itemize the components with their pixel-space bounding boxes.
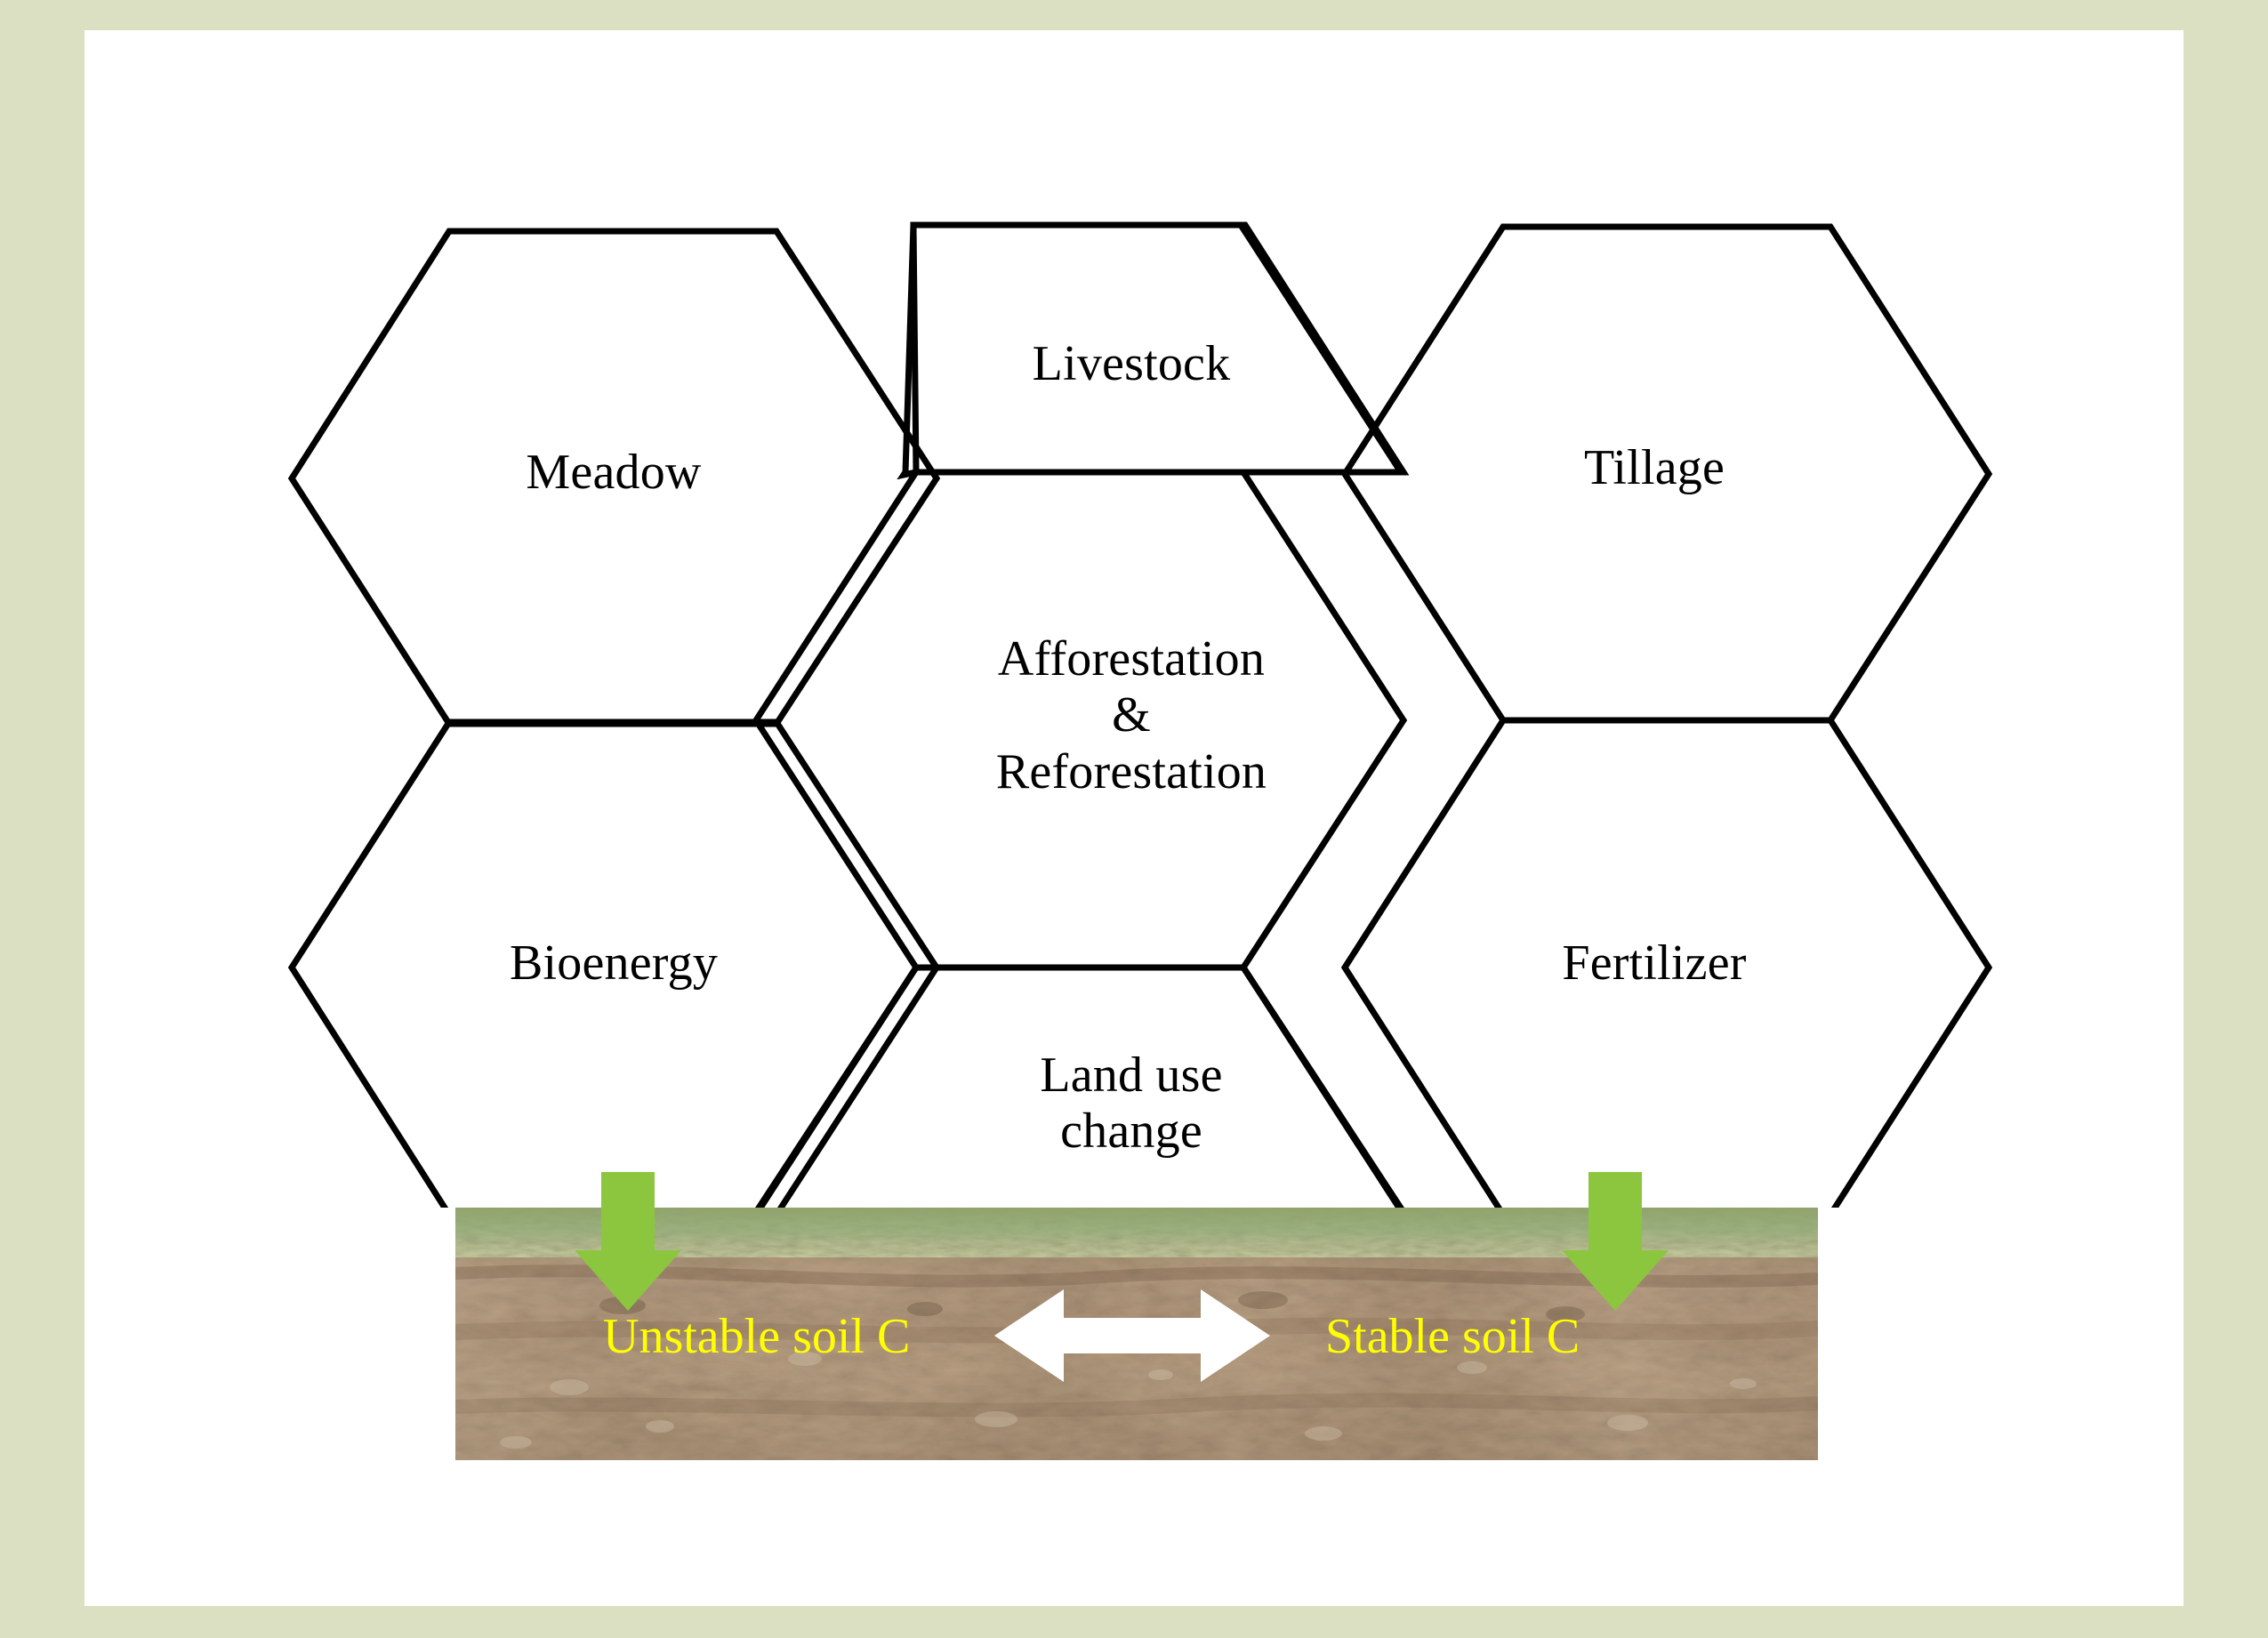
figure-root: Meadow Livestock Tillage Afforestation &… — [0, 0, 2268, 1638]
hexagon-meadow[interactable] — [292, 231, 937, 724]
diagram-canvas — [0, 0, 2268, 1638]
hexagon-fertilizer[interactable] — [1345, 720, 1989, 1215]
hexagon-afforestation[interactable] — [756, 472, 1403, 968]
hexagon-livestock-outline[interactable] — [904, 225, 1403, 475]
hexagon-bioenergy[interactable] — [292, 722, 937, 1215]
soil-label-stable: Stable soil C — [1325, 1312, 1580, 1361]
soil-label-unstable: Unstable soil C — [603, 1312, 910, 1361]
hexagon-tillage[interactable] — [1345, 227, 1989, 720]
